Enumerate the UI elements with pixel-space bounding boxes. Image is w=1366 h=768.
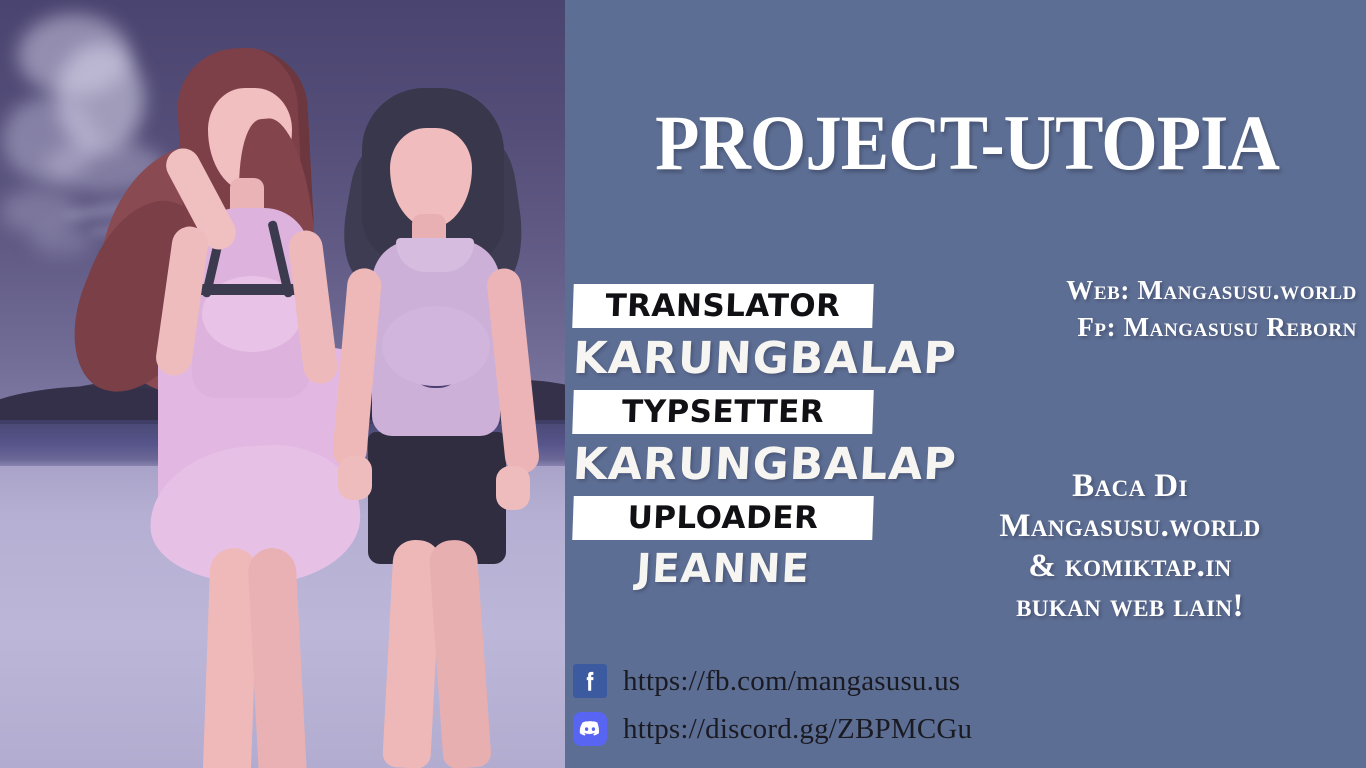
credit-role-translator: TRANSLATOR <box>572 284 874 328</box>
notice-line-2: Mangasusu.world <box>915 506 1345 546</box>
web-line: Web: Mangasusu.world <box>895 272 1357 309</box>
notice-line-1: Baca Di <box>915 466 1345 506</box>
facebook-url[interactable]: https://fb.com/mangasusu.us <box>623 664 960 698</box>
notice-line-4: bukan web lain! <box>915 586 1345 626</box>
credit-name-uploader: JEANNE <box>572 542 875 596</box>
hand <box>496 466 530 510</box>
character-right <box>338 88 565 768</box>
social-link-discord[interactable]: https://discord.gg/ZBPMCGu <box>573 708 1043 750</box>
credit-name-translator: KARUNGBALAP <box>571 330 874 388</box>
cloud-shape <box>30 226 92 256</box>
discord-icon <box>573 712 607 746</box>
group-title: PROJECT-UTOPIA <box>642 100 1293 186</box>
manga-illustration-panel <box>0 0 565 768</box>
facebook-icon <box>573 664 607 698</box>
hand <box>338 456 372 500</box>
credits-list: TRANSLATOR KARUNGBALAP TYPSETTER KARUNGB… <box>573 284 873 598</box>
credits-area: PROJECT-UTOPIA TRANSLATOR KARUNGBALAP TY… <box>565 0 1366 768</box>
social-links: https://fb.com/mangasusu.us https://disc… <box>573 660 1043 756</box>
scanlation-credits-banner: PROJECT-UTOPIA TRANSLATOR KARUNGBALAP TY… <box>0 0 1366 768</box>
leg <box>428 539 492 768</box>
contact-block: Web: Mangasusu.world Fp: Mangasusu Rebor… <box>895 272 1357 346</box>
notice-line-3: & komiktap.in <box>915 546 1345 586</box>
discord-url[interactable]: https://discord.gg/ZBPMCGu <box>623 712 972 746</box>
social-link-facebook[interactable]: https://fb.com/mangasusu.us <box>573 660 1043 702</box>
fanpage-line: Fp: Mangasusu Reborn <box>895 309 1357 346</box>
leg <box>247 547 309 768</box>
credit-role-uploader: UPLOADER <box>572 496 874 540</box>
credit-role-typesetter: TYPSETTER <box>572 390 874 434</box>
credit-name-typesetter: KARUNGBALAP <box>571 436 874 494</box>
read-notice-block: Baca Di Mangasusu.world & komiktap.in bu… <box>915 466 1345 626</box>
blouse <box>382 306 490 386</box>
